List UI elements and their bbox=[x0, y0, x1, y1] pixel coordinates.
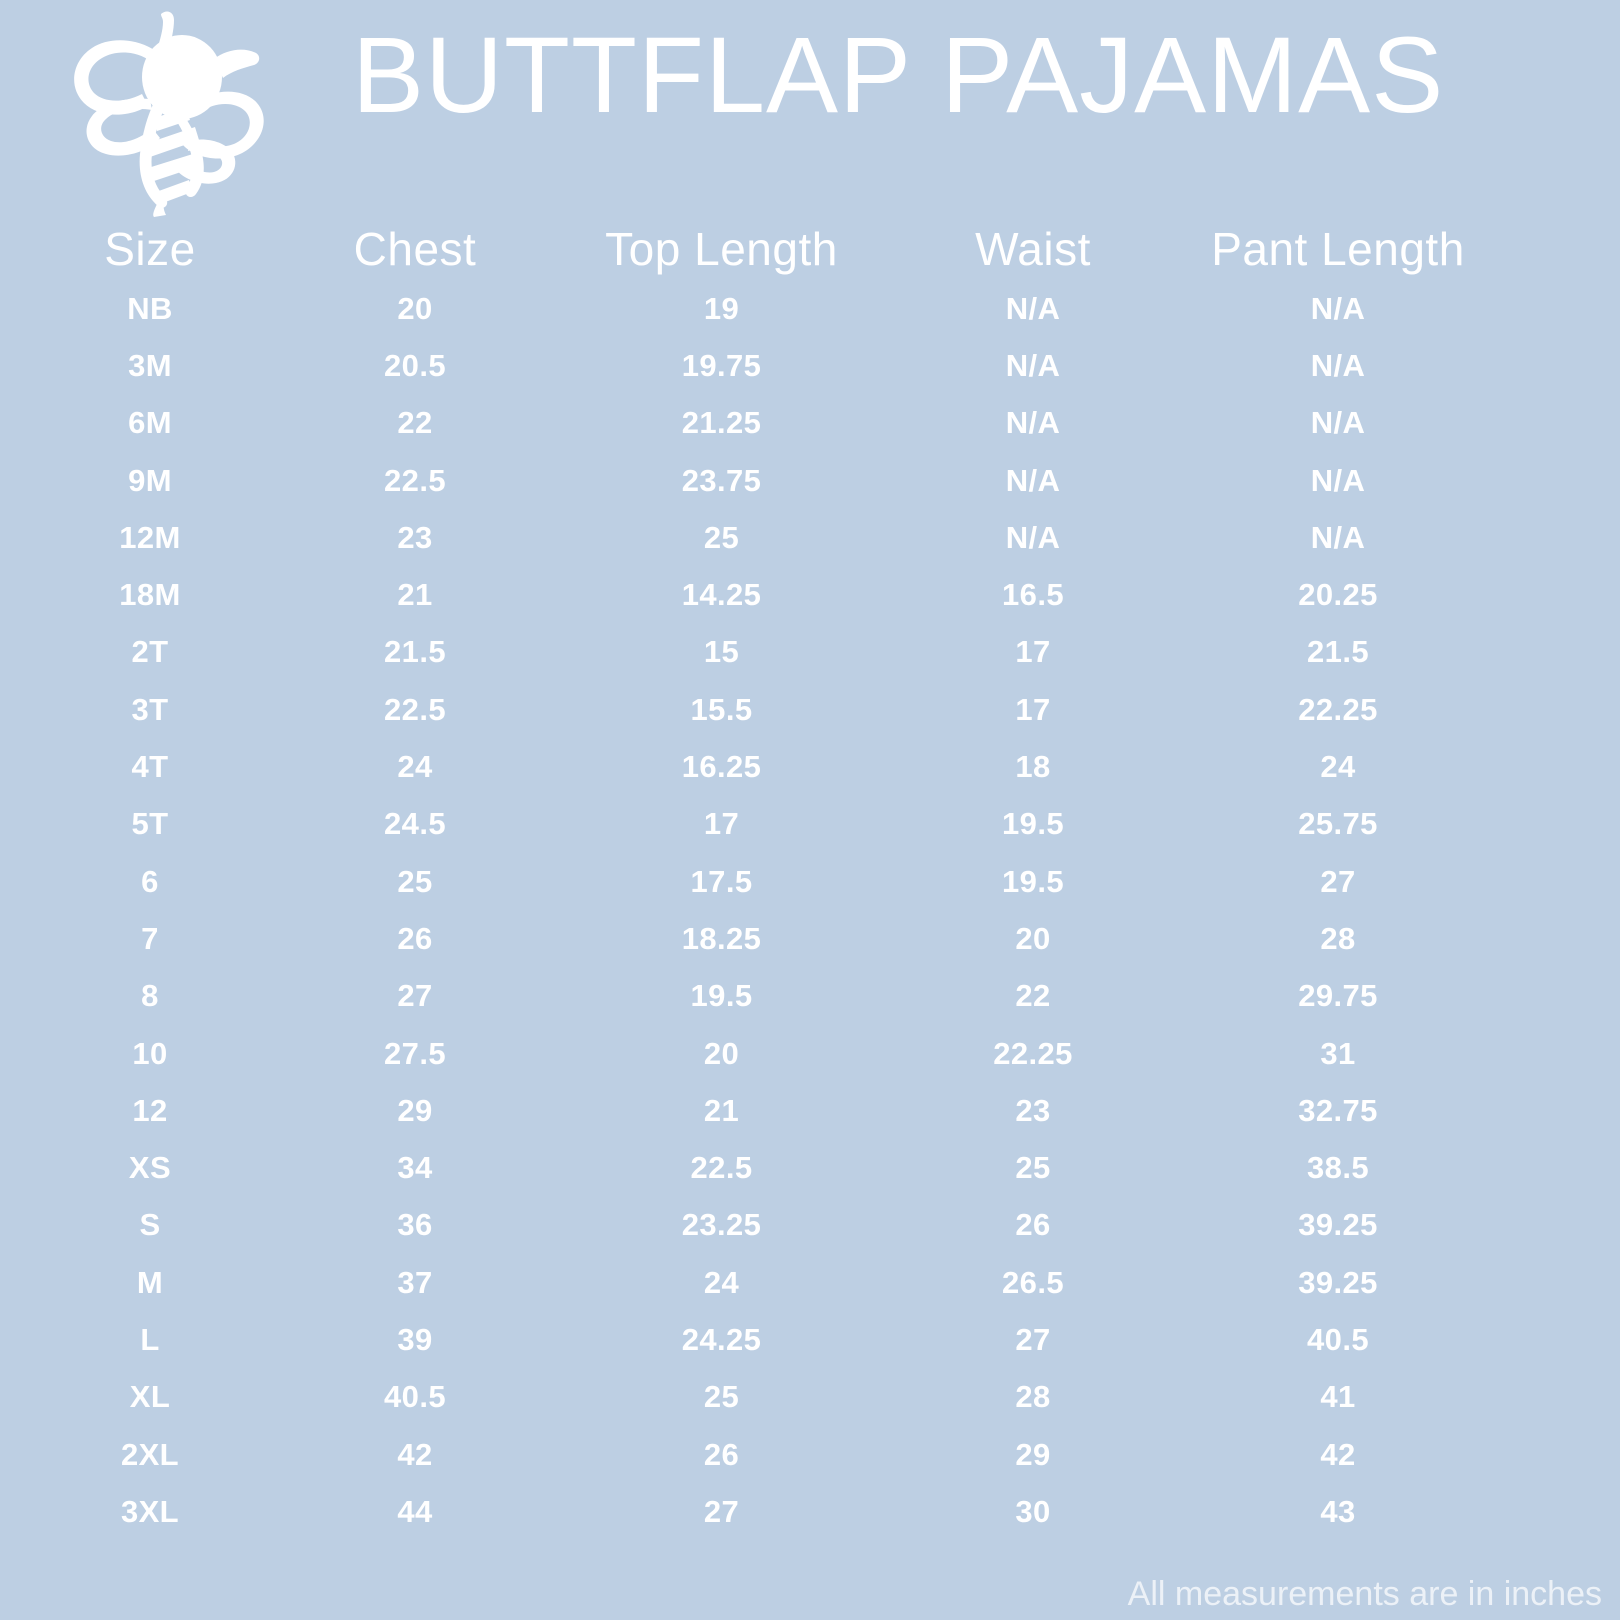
cell-waist: 17 bbox=[913, 635, 1153, 669]
cell-chest: 22 bbox=[300, 406, 530, 440]
cell-waist: 16.5 bbox=[913, 578, 1153, 612]
cell-pant-length: 43 bbox=[1153, 1495, 1523, 1529]
cell-pant-length: 20.25 bbox=[1153, 578, 1523, 612]
cell-size: XL bbox=[0, 1380, 300, 1414]
cell-waist: N/A bbox=[913, 521, 1153, 555]
cell-pant-length: 39.25 bbox=[1153, 1208, 1523, 1242]
cell-chest: 22.5 bbox=[300, 464, 530, 498]
footer-note: All measurements are in inches bbox=[1128, 1574, 1602, 1614]
table-row: S3623.252639.25 bbox=[0, 1197, 1620, 1254]
cell-waist: N/A bbox=[913, 406, 1153, 440]
cell-top-length: 24 bbox=[530, 1266, 913, 1300]
cell-chest: 20 bbox=[300, 292, 530, 326]
cell-top-length: 19 bbox=[530, 292, 913, 326]
cell-pant-length: N/A bbox=[1153, 406, 1523, 440]
cell-top-length: 21.25 bbox=[530, 406, 913, 440]
cell-size: 3T bbox=[0, 693, 300, 727]
table-row: XL40.5252841 bbox=[0, 1369, 1620, 1426]
cell-size: 6M bbox=[0, 406, 300, 440]
column-header-pant-length: Pant Length bbox=[1153, 224, 1523, 274]
cell-top-length: 23.75 bbox=[530, 464, 913, 498]
cell-chest: 29 bbox=[300, 1094, 530, 1128]
cell-top-length: 20 bbox=[530, 1037, 913, 1071]
cell-waist: 26 bbox=[913, 1208, 1153, 1242]
cell-pant-length: 22.25 bbox=[1153, 693, 1523, 727]
cell-pant-length: 38.5 bbox=[1153, 1151, 1523, 1185]
cell-size: 8 bbox=[0, 979, 300, 1013]
cell-waist: N/A bbox=[913, 292, 1153, 326]
cell-size: 12M bbox=[0, 521, 300, 555]
table-row: 82719.52229.75 bbox=[0, 968, 1620, 1025]
cell-top-length: 16.25 bbox=[530, 750, 913, 784]
cell-chest: 27 bbox=[300, 979, 530, 1013]
cell-pant-length: 42 bbox=[1153, 1438, 1523, 1472]
cell-pant-length: 31 bbox=[1153, 1037, 1523, 1071]
table-row: 1229212332.75 bbox=[0, 1082, 1620, 1139]
cell-top-length: 27 bbox=[530, 1495, 913, 1529]
page-title: BUTTFLAP PAJAMAS bbox=[352, 14, 1610, 136]
cell-waist: 18 bbox=[913, 750, 1153, 784]
table-row: 72618.252028 bbox=[0, 910, 1620, 967]
cell-top-length: 17.5 bbox=[530, 865, 913, 899]
cell-pant-length: 40.5 bbox=[1153, 1323, 1523, 1357]
cell-pant-length: N/A bbox=[1153, 349, 1523, 383]
table-row: 1027.52022.2531 bbox=[0, 1025, 1620, 1082]
cell-chest: 40.5 bbox=[300, 1380, 530, 1414]
table-header-row: Size Chest Top Length Waist Pant Length bbox=[0, 218, 1620, 280]
cell-size: 3XL bbox=[0, 1495, 300, 1529]
cell-pant-length: 28 bbox=[1153, 922, 1523, 956]
cell-top-length: 15.5 bbox=[530, 693, 913, 727]
column-header-chest: Chest bbox=[300, 224, 530, 274]
cell-top-length: 22.5 bbox=[530, 1151, 913, 1185]
cell-pant-length: 29.75 bbox=[1153, 979, 1523, 1013]
cell-chest: 25 bbox=[300, 865, 530, 899]
cell-size: 12 bbox=[0, 1094, 300, 1128]
cell-pant-length: N/A bbox=[1153, 521, 1523, 555]
cell-size: 18M bbox=[0, 578, 300, 612]
cell-waist: N/A bbox=[913, 464, 1153, 498]
cell-chest: 27.5 bbox=[300, 1037, 530, 1071]
size-chart-page: BUTTFLAP PAJAMAS Size Chest Top Length W… bbox=[0, 0, 1620, 1620]
cell-size: XS bbox=[0, 1151, 300, 1185]
cell-waist: 19.5 bbox=[913, 807, 1153, 841]
cell-size: 9M bbox=[0, 464, 300, 498]
cell-top-length: 23.25 bbox=[530, 1208, 913, 1242]
cell-size: 2XL bbox=[0, 1438, 300, 1472]
column-header-size: Size bbox=[0, 224, 300, 274]
cell-chest: 20.5 bbox=[300, 349, 530, 383]
cell-waist: 28 bbox=[913, 1380, 1153, 1414]
cell-chest: 34 bbox=[300, 1151, 530, 1185]
cell-size: 5T bbox=[0, 807, 300, 841]
cell-top-length: 26 bbox=[530, 1438, 913, 1472]
table-row: 2XL42262942 bbox=[0, 1426, 1620, 1483]
table-row: 3XL44273043 bbox=[0, 1483, 1620, 1540]
cell-size: M bbox=[0, 1266, 300, 1300]
cell-pant-length: 25.75 bbox=[1153, 807, 1523, 841]
cell-pant-length: 32.75 bbox=[1153, 1094, 1523, 1128]
table-row: M372426.539.25 bbox=[0, 1254, 1620, 1311]
cell-waist: 26.5 bbox=[913, 1266, 1153, 1300]
cell-waist: 30 bbox=[913, 1495, 1153, 1529]
cell-chest: 26 bbox=[300, 922, 530, 956]
cell-size: 10 bbox=[0, 1037, 300, 1071]
cell-size: 4T bbox=[0, 750, 300, 784]
cell-waist: 25 bbox=[913, 1151, 1153, 1185]
cell-waist: 22 bbox=[913, 979, 1153, 1013]
table-row: 3M20.519.75N/AN/A bbox=[0, 337, 1620, 394]
cell-size: NB bbox=[0, 292, 300, 326]
cell-waist: 19.5 bbox=[913, 865, 1153, 899]
cell-size: 7 bbox=[0, 922, 300, 956]
table-row: 2T21.5151721.5 bbox=[0, 624, 1620, 681]
cell-top-length: 15 bbox=[530, 635, 913, 669]
bee-logo bbox=[62, 2, 272, 217]
table-row: XS3422.52538.5 bbox=[0, 1139, 1620, 1196]
cell-pant-length: 39.25 bbox=[1153, 1266, 1523, 1300]
cell-size: 3M bbox=[0, 349, 300, 383]
cell-waist: 27 bbox=[913, 1323, 1153, 1357]
cell-chest: 23 bbox=[300, 521, 530, 555]
cell-waist: N/A bbox=[913, 349, 1153, 383]
cell-waist: 17 bbox=[913, 693, 1153, 727]
cell-top-length: 19.5 bbox=[530, 979, 913, 1013]
table-row: 6M2221.25N/AN/A bbox=[0, 395, 1620, 452]
cell-top-length: 25 bbox=[530, 1380, 913, 1414]
cell-chest: 24.5 bbox=[300, 807, 530, 841]
cell-size: L bbox=[0, 1323, 300, 1357]
table-row: 12M2325N/AN/A bbox=[0, 509, 1620, 566]
cell-chest: 37 bbox=[300, 1266, 530, 1300]
table-row: L3924.252740.5 bbox=[0, 1311, 1620, 1368]
cell-pant-length: 41 bbox=[1153, 1380, 1523, 1414]
cell-waist: 22.25 bbox=[913, 1037, 1153, 1071]
cell-top-length: 18.25 bbox=[530, 922, 913, 956]
cell-pant-length: 27 bbox=[1153, 865, 1523, 899]
cell-chest: 44 bbox=[300, 1495, 530, 1529]
cell-pant-length: 21.5 bbox=[1153, 635, 1523, 669]
cell-chest: 39 bbox=[300, 1323, 530, 1357]
cell-chest: 21 bbox=[300, 578, 530, 612]
cell-size: S bbox=[0, 1208, 300, 1242]
cell-chest: 24 bbox=[300, 750, 530, 784]
cell-pant-length: N/A bbox=[1153, 292, 1523, 326]
cell-top-length: 17 bbox=[530, 807, 913, 841]
table-row: 18M2114.2516.520.25 bbox=[0, 566, 1620, 623]
table-row: 62517.519.527 bbox=[0, 853, 1620, 910]
cell-top-length: 21 bbox=[530, 1094, 913, 1128]
cell-top-length: 19.75 bbox=[530, 349, 913, 383]
cell-size: 2T bbox=[0, 635, 300, 669]
cell-waist: 20 bbox=[913, 922, 1153, 956]
cell-top-length: 24.25 bbox=[530, 1323, 913, 1357]
cell-size: 6 bbox=[0, 865, 300, 899]
cell-top-length: 14.25 bbox=[530, 578, 913, 612]
cell-chest: 36 bbox=[300, 1208, 530, 1242]
table-row: 3T22.515.51722.25 bbox=[0, 681, 1620, 738]
cell-pant-length: 24 bbox=[1153, 750, 1523, 784]
cell-chest: 42 bbox=[300, 1438, 530, 1472]
table-row: 9M22.523.75N/AN/A bbox=[0, 452, 1620, 509]
cell-waist: 29 bbox=[913, 1438, 1153, 1472]
cell-chest: 22.5 bbox=[300, 693, 530, 727]
size-table: Size Chest Top Length Waist Pant Length … bbox=[0, 218, 1620, 1541]
table-row: 4T2416.251824 bbox=[0, 738, 1620, 795]
table-row: 5T24.51719.525.75 bbox=[0, 796, 1620, 853]
table-row: NB2019N/AN/A bbox=[0, 280, 1620, 337]
column-header-top-length: Top Length bbox=[530, 224, 913, 274]
cell-pant-length: N/A bbox=[1153, 464, 1523, 498]
column-header-waist: Waist bbox=[913, 224, 1153, 274]
cell-waist: 23 bbox=[913, 1094, 1153, 1128]
cell-chest: 21.5 bbox=[300, 635, 530, 669]
cell-top-length: 25 bbox=[530, 521, 913, 555]
